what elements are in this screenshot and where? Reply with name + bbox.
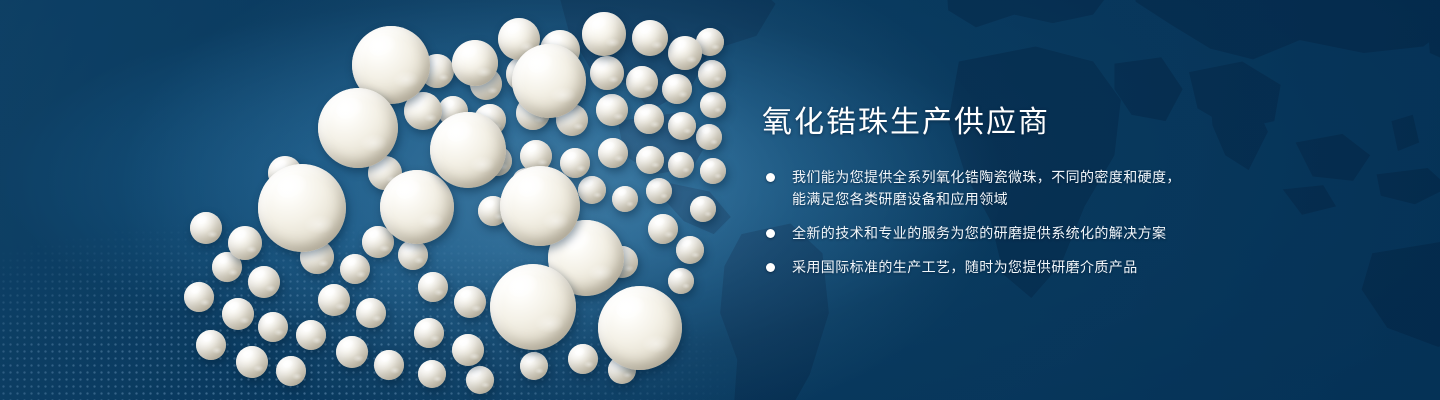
ceramic-bead xyxy=(648,214,678,244)
ceramic-bead xyxy=(340,254,370,284)
ceramic-bead xyxy=(318,88,398,168)
ceramic-bead xyxy=(612,186,638,212)
ceramic-bead xyxy=(668,36,702,70)
list-item-text: 能满足您各类研磨设备和应用领域 xyxy=(792,188,1232,210)
ceramic-bead xyxy=(626,66,658,98)
ceramic-bead xyxy=(236,346,268,378)
ceramic-bead xyxy=(452,334,484,366)
ceramic-bead xyxy=(690,196,716,222)
bullet-dot-icon xyxy=(766,263,775,272)
ceramic-bead xyxy=(318,284,350,316)
ceramic-bead xyxy=(596,94,628,126)
ceramic-bead xyxy=(700,158,726,184)
hero-banner: 氧化锆珠生产供应商 我们能为您提供全系列氧化锆陶瓷微珠，不同的密度和硬度，能满足… xyxy=(0,0,1440,400)
bullet-dot-icon xyxy=(766,173,775,182)
ceramic-bead xyxy=(632,20,668,56)
ceramic-bead xyxy=(196,330,226,360)
page-title: 氧化锆珠生产供应商 xyxy=(762,104,1232,142)
ceramic-bead xyxy=(276,356,306,386)
banner-copy: 氧化锆珠生产供应商 我们能为您提供全系列氧化锆陶瓷微珠，不同的密度和硬度，能满足… xyxy=(762,104,1232,278)
ceramic-bead xyxy=(500,166,580,246)
ceramic-bead xyxy=(374,350,404,380)
zirconia-beads-image xyxy=(0,0,740,400)
ceramic-bead xyxy=(700,92,726,118)
ceramic-bead xyxy=(380,170,454,244)
ceramic-bead xyxy=(258,312,288,342)
ceramic-bead xyxy=(248,266,280,298)
ceramic-bead xyxy=(668,268,694,294)
list-item: 采用国际标准的生产工艺，随时为您提供研磨介质产品 xyxy=(762,256,1232,278)
ceramic-bead xyxy=(676,236,704,264)
feature-list: 我们能为您提供全系列氧化锆陶瓷微珠，不同的密度和硬度，能满足您各类研磨设备和应用… xyxy=(762,166,1232,278)
list-item: 全新的技术和专业的服务为您的研磨提供系统化的解决方案 xyxy=(762,222,1232,244)
ceramic-bead xyxy=(336,336,368,368)
ceramic-bead xyxy=(296,320,326,350)
ceramic-bead xyxy=(356,298,386,328)
ceramic-bead xyxy=(452,40,498,86)
ceramic-bead xyxy=(228,226,262,260)
list-item: 我们能为您提供全系列氧化锆陶瓷微珠，不同的密度和硬度，能满足您各类研磨设备和应用… xyxy=(762,166,1232,210)
ceramic-bead xyxy=(190,212,222,244)
ceramic-bead xyxy=(466,366,494,394)
ceramic-bead xyxy=(520,352,548,380)
ceramic-bead xyxy=(418,360,446,388)
ceramic-bead xyxy=(184,282,214,312)
ceramic-bead xyxy=(662,74,692,104)
ceramic-bead xyxy=(578,176,606,204)
ceramic-bead xyxy=(634,104,664,134)
list-item-text: 全新的技术和专业的服务为您的研磨提供系统化的解决方案 xyxy=(792,222,1232,244)
ceramic-bead xyxy=(590,56,624,90)
ceramic-bead xyxy=(636,146,664,174)
ceramic-bead xyxy=(512,44,586,118)
bullet-dot-icon xyxy=(766,229,775,238)
ceramic-bead xyxy=(598,286,682,370)
list-item-text: 采用国际标准的生产工艺，随时为您提供研磨介质产品 xyxy=(792,256,1232,278)
ceramic-bead xyxy=(414,318,444,348)
ceramic-bead xyxy=(398,240,428,270)
ceramic-bead xyxy=(598,138,628,168)
ceramic-bead xyxy=(418,272,448,302)
ceramic-bead xyxy=(490,264,576,350)
ceramic-bead xyxy=(222,298,254,330)
ceramic-bead xyxy=(698,60,726,88)
ceramic-bead xyxy=(668,152,694,178)
ceramic-bead xyxy=(696,124,722,150)
ceramic-bead xyxy=(258,164,346,252)
ceramic-bead xyxy=(568,344,598,374)
ceramic-bead xyxy=(668,112,696,140)
ceramic-bead xyxy=(582,12,626,56)
ceramic-bead xyxy=(430,112,506,188)
ceramic-bead xyxy=(646,178,672,204)
list-item-text: 我们能为您提供全系列氧化锆陶瓷微珠，不同的密度和硬度， xyxy=(792,166,1232,188)
ceramic-bead xyxy=(454,286,486,318)
